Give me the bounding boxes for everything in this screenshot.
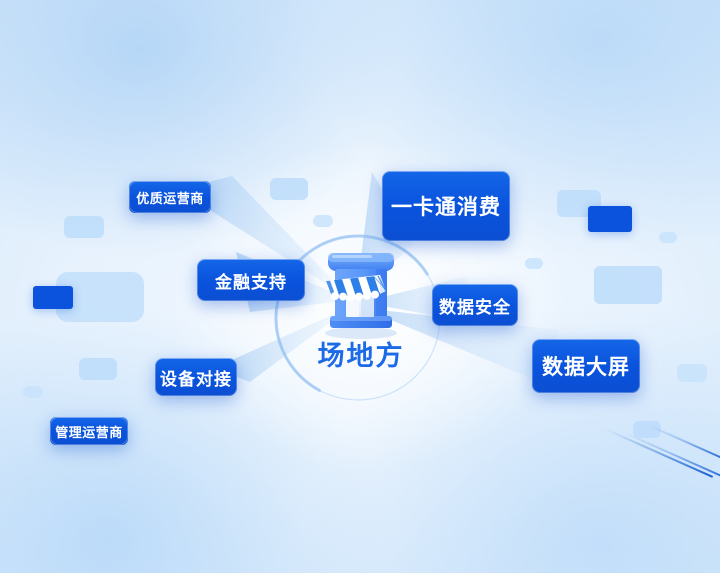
chip-data-security[interactable]: 数据安全 — [432, 284, 518, 326]
background-glow-top-right — [320, 0, 720, 260]
deco-rect-left-2 — [33, 286, 73, 309]
center-title: 场地方 — [296, 334, 426, 373]
chip-financial-support[interactable]: 金融支持 — [197, 259, 305, 301]
diagonal-line-1 — [605, 428, 714, 478]
deco-rect-bottom-1 — [633, 421, 661, 438]
chip-label: 优质运营商 — [136, 188, 204, 207]
chip-label: 数据安全 — [439, 293, 511, 318]
deco-rect-left-3 — [79, 358, 117, 380]
chip-device-integration[interactable]: 设备对接 — [155, 358, 237, 396]
chip-label: 金融支持 — [215, 268, 287, 293]
deco-rect-left-big — [56, 272, 144, 322]
storefront-icon — [308, 245, 414, 341]
chip-label: 一卡通消费 — [391, 191, 501, 221]
diagonal-line-3 — [648, 424, 720, 458]
deco-rect-left-4 — [23, 386, 43, 398]
deco-rect-right-1 — [659, 232, 677, 243]
chip-label: 管理运营商 — [55, 422, 123, 441]
chip-label: 设备对接 — [160, 365, 232, 390]
deco-rect-top-2 — [313, 215, 333, 227]
diagonal-line-2 — [625, 432, 720, 477]
deco-rect-top-3 — [557, 190, 601, 217]
deco-rect-top-1 — [270, 178, 308, 200]
chip-premium-operator[interactable]: 优质运营商 — [129, 181, 211, 213]
deco-rect-top-4 — [588, 206, 632, 232]
infographic-canvas: 场地方 优质运营商金融支持一卡通消费数据安全数据大屏设备对接管理运营商 — [0, 0, 720, 573]
deco-rect-right-4 — [677, 364, 707, 382]
chip-management-operator[interactable]: 管理运营商 — [50, 417, 128, 445]
background-glow-top-left — [0, 0, 400, 260]
deco-rect-right-3 — [594, 266, 662, 304]
deco-rect-left-1 — [64, 216, 104, 238]
deco-rect-right-2 — [525, 258, 543, 269]
chip-data-dashboard[interactable]: 数据大屏 — [532, 339, 640, 393]
chip-label: 数据大屏 — [542, 351, 630, 381]
chip-all-in-one-card-payment[interactable]: 一卡通消费 — [382, 171, 510, 241]
